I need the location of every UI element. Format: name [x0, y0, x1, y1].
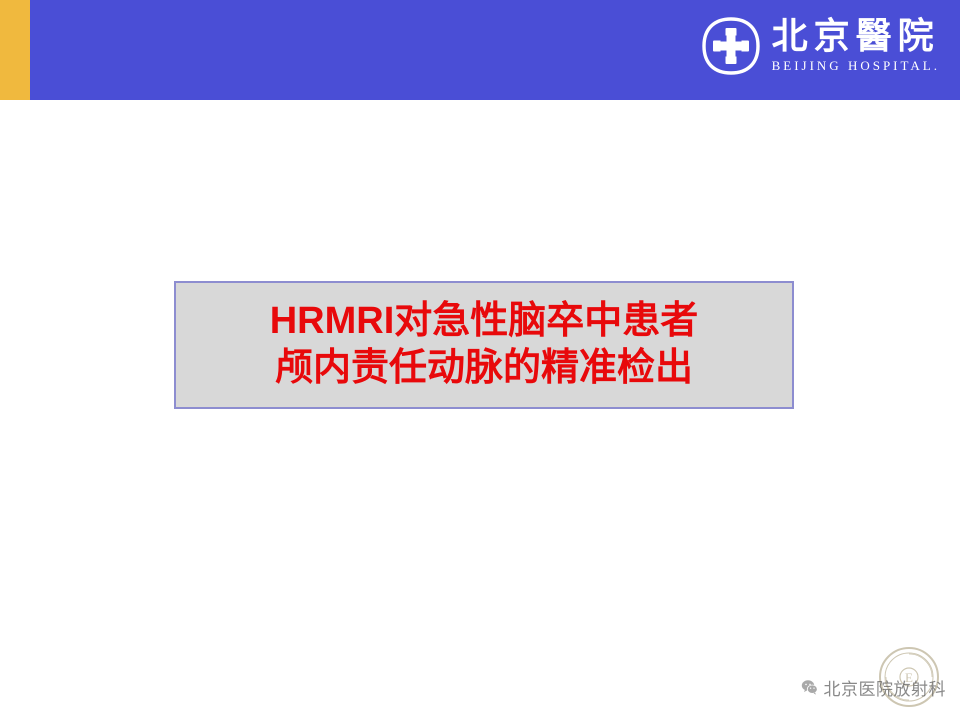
hospital-logo-text: 北京醫院 BEIJING HOSPITAL. [772, 18, 940, 73]
hospital-name-en: BEIJING HOSPITAL. [772, 58, 940, 74]
wechat-icon [801, 679, 818, 696]
page-title-line-2: 颅内责任动脉的精准检出 [275, 345, 693, 393]
hospital-logo: 北京醫院 BEIJING HOSPITAL. [700, 10, 940, 82]
watermark-credit: 北京医院放射科 [801, 675, 947, 700]
left-accent-strip [0, 0, 30, 100]
watermark-text: 北京医院放射科 [824, 675, 947, 700]
slide-canvas: 北京醫院 BEIJING HOSPITAL. HRMRI对急性脑卒中患者 颅内责… [0, 0, 960, 720]
top-banner: 北京醫院 BEIJING HOSPITAL. [30, 0, 960, 100]
hospital-name-cn: 北京醫院 [772, 18, 940, 56]
page-title-line-1: HRMRI对急性脑卒中患者 [270, 298, 699, 346]
slide-title-box: HRMRI对急性脑卒中患者 颅内责任动脉的精准检出 [174, 281, 794, 409]
hospital-cross-logo-icon [700, 15, 762, 77]
